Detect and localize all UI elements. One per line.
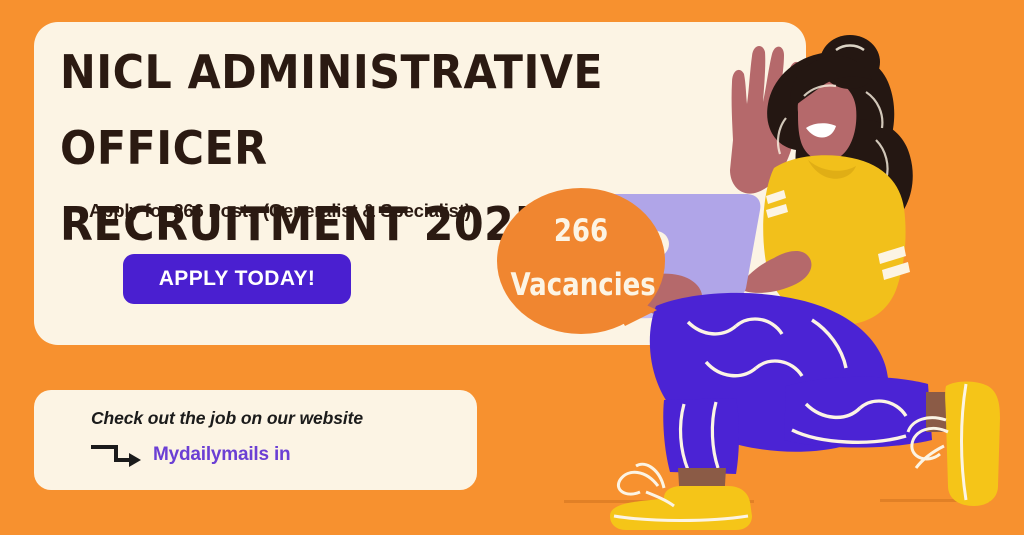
website-card: Check out the job on our website Mydaily…: [34, 390, 477, 490]
website-link[interactable]: Mydailymails in: [153, 444, 290, 466]
recruitment-banner: NICL ADMINISTRATIVE OFFICER RECRUITMENT …: [0, 0, 1024, 535]
main-content-card: NICL ADMINISTRATIVE OFFICER RECRUITMENT …: [34, 22, 806, 345]
apply-today-button[interactable]: APPLY TODAY!: [123, 254, 351, 304]
subtitle-posts-count: Apply for 266 Posts (Generalist & Specia…: [89, 200, 471, 222]
vacancies-badge: 266 Vacancies: [497, 188, 669, 334]
website-link-row[interactable]: Mydailymails in: [91, 442, 290, 468]
vacancies-badge-text: 266 Vacancies: [510, 204, 651, 312]
website-prompt-text: Check out the job on our website: [91, 408, 363, 429]
stepped-arrow-icon: [91, 442, 143, 468]
